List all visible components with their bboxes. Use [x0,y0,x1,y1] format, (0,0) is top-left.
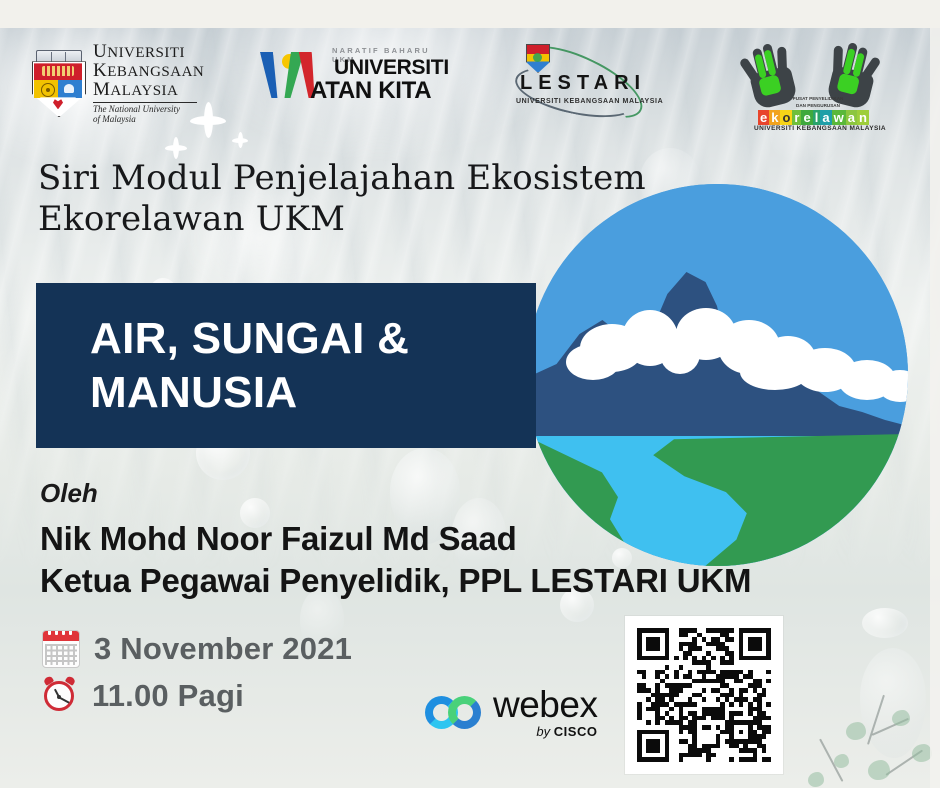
ukm-crest-icon [30,50,86,116]
poster-canvas: UUNIVERSITINIVERSITI KEBANGSAAN MALAYSIA… [0,0,940,788]
webex-wordmark: webex by CISCO [493,686,597,738]
speaker-block: Nik Mohd Noor Faizul Md Saad Ketua Pegaw… [40,518,751,602]
watan-kita-logo: NARATIF BAHARU UKM UNIVERSITI ATAN KITA [262,44,442,106]
event-details: 3 November 2021 11.00 Pagi [42,630,352,724]
calendar-icon [42,630,80,668]
illustration-cloud [740,354,810,390]
title-line1: AIR, SUNGAI & [90,314,409,363]
webex-logo: webex by CISCO [425,686,597,738]
event-time-row: 11.00 Pagi [42,678,352,714]
headline-line1: Siri Modul Penjelajahan Ekosistem [38,158,646,198]
webex-byline-brand: CISCO [554,724,598,739]
plant-branch-decoration [800,728,890,788]
event-time: 11.00 Pagi [92,678,244,714]
webex-byline-prefix: by [536,724,550,739]
ekorelawan-sub: UNIVERSITI KEBANGSAAN MALAYSIA [754,125,886,132]
watan-kita-line2: ATAN KITA [310,77,431,105]
qr-code-card[interactable] [625,616,783,774]
poster-right-border [930,28,940,788]
qr-code-icon[interactable] [637,628,771,762]
poster-headline: Siri Modul Penjelajahan Ekosistem Ekorel… [38,158,698,241]
ekorelawan-logo: PUSAT PENYELIDIKAN DAN PENGURUSAN KELEST… [736,38,896,136]
webex-byline: by CISCO [493,725,597,738]
poster-top-border [0,0,940,28]
illustration-cloud [566,344,620,380]
speaker-name: Nik Mohd Noor Faizul Md Saad [40,520,517,557]
event-date-row: 3 November 2021 [42,630,352,668]
lestari-sub: UNIVERSITI KEBANGSAAN MALAYSIA [516,98,663,105]
alarm-clock-icon [42,678,78,714]
mountain-river-landscape-icon [526,184,908,566]
lestari-wordmark: LESTARI [520,72,646,95]
ukm-tagline-line2: of Malaysia [93,115,204,125]
webex-name: webex [493,686,597,723]
headline-line2: Ekorelawan UKM [38,199,698,240]
title-banner-text: AIR, SUNGAI & MANUSIA [36,312,409,419]
water-bubble [862,608,908,638]
speaker-prefix: Oleh [40,478,98,509]
lestari-logo: LESTARI UNIVERSITI KEBANGSAAN MALAYSIA [512,44,672,116]
webex-rings-icon [425,692,483,732]
speaker-position: Ketua Pegawai Penyelidik, PPL LESTARI UK… [40,560,751,602]
ukm-wordmark: UUNIVERSITINIVERSITI KEBANGSAAN MALAYSIA… [93,42,204,125]
ukm-logo: UUNIVERSITINIVERSITI KEBANGSAAN MALAYSIA… [30,42,204,125]
event-date: 3 November 2021 [94,631,352,667]
title-line2: MANUSIA [90,366,409,420]
ekorelawan-wordmark: ekorelawan [758,110,869,125]
title-banner: AIR, SUNGAI & MANUSIA [36,283,536,448]
logo-row: UUNIVERSITINIVERSITI KEBANGSAAN MALAYSIA… [0,38,940,138]
